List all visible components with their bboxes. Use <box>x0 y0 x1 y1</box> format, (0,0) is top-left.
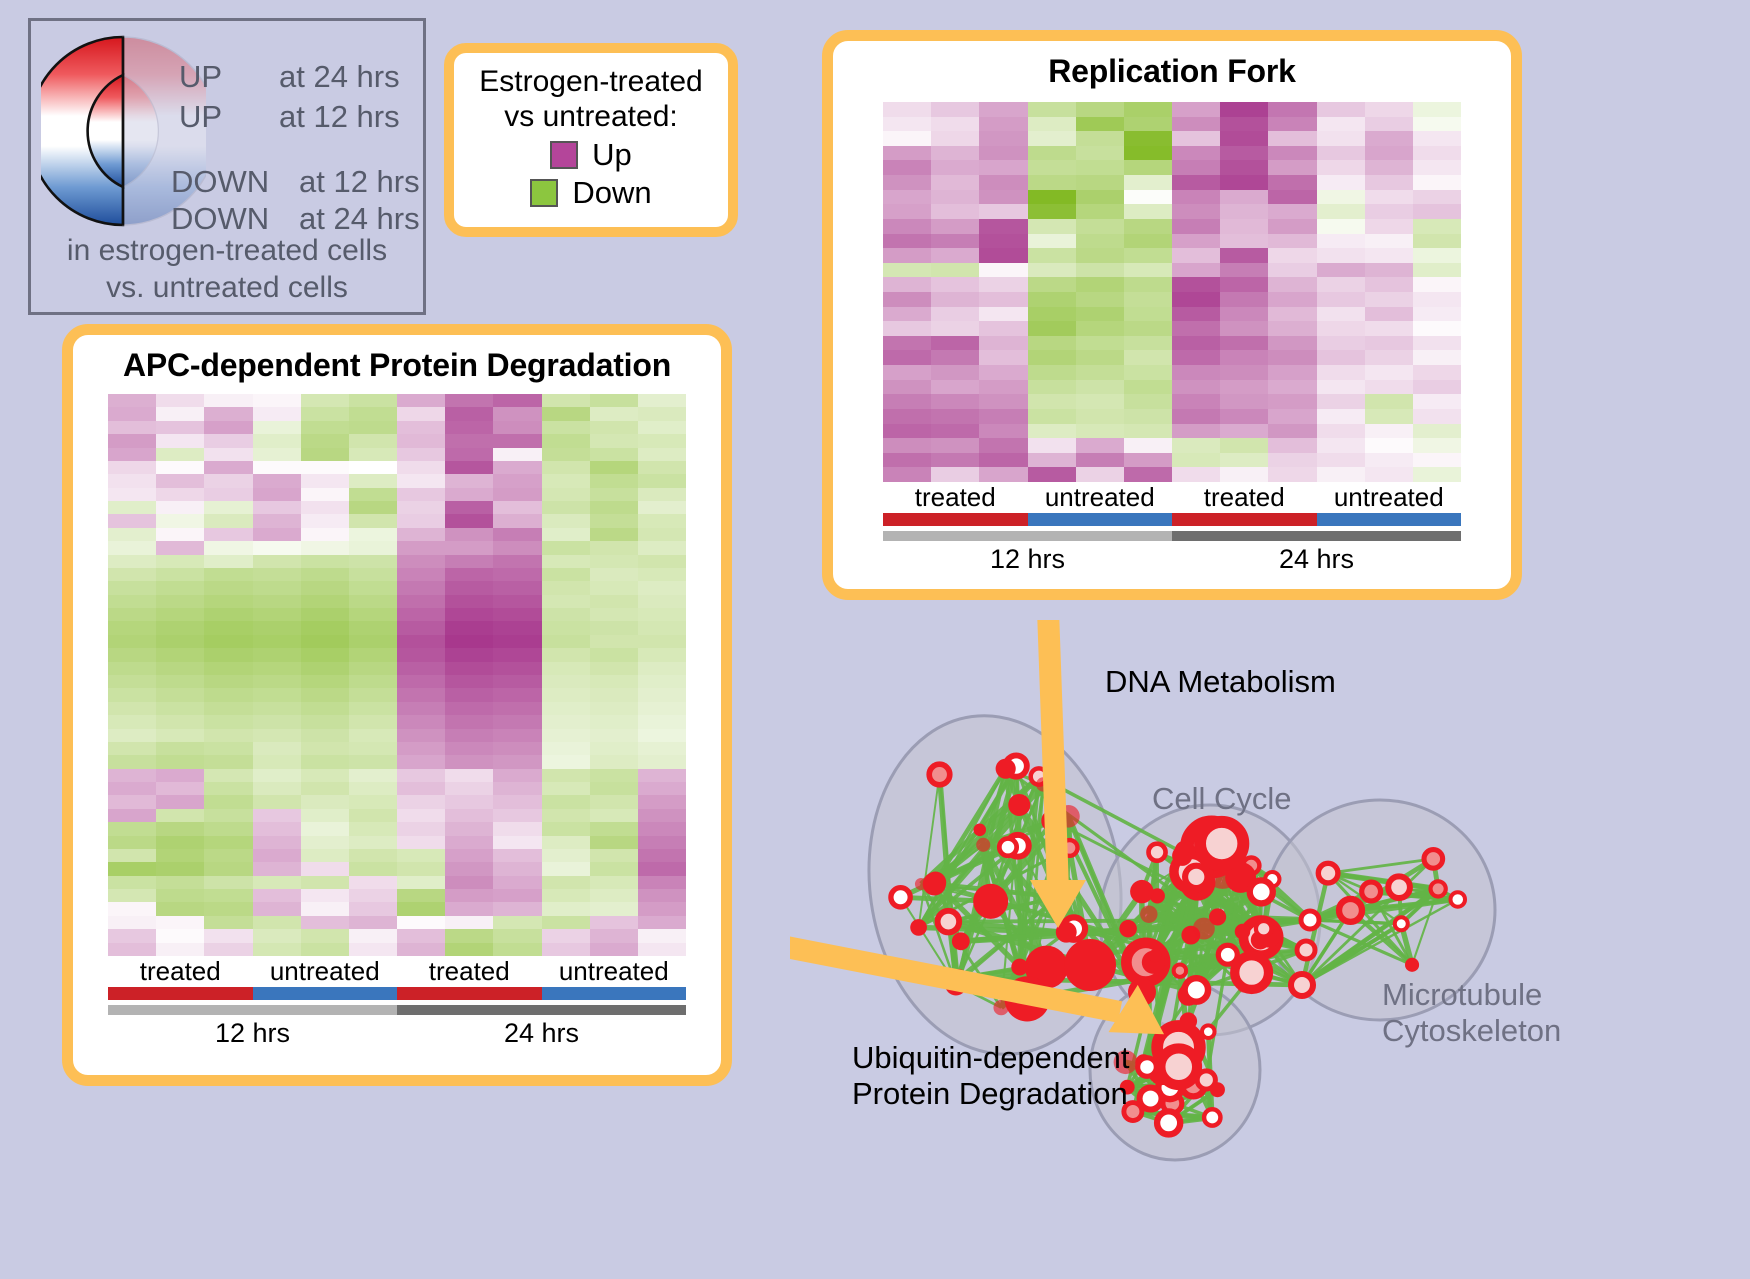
heatmap-cell <box>638 862 686 875</box>
legend-footer: in estrogen-treated cells vs. untreated … <box>31 233 423 306</box>
heatmap-cell <box>542 461 590 474</box>
heatmap-cell <box>1172 175 1220 190</box>
heatmap-cell <box>156 862 204 875</box>
heatmap-cell <box>542 809 590 822</box>
heatmap-cell <box>1317 394 1365 409</box>
network-node[interactable] <box>1204 1109 1220 1125</box>
heatmap-cell <box>445 394 493 407</box>
heatmap-cell <box>204 662 252 675</box>
heatmap-cell <box>253 595 301 608</box>
heatmap-cell <box>301 474 349 487</box>
heatmap-cell <box>156 394 204 407</box>
heatmap-cell <box>931 336 979 351</box>
heatmap-cell <box>1076 321 1124 336</box>
heatmap-cell <box>883 160 931 175</box>
heatmap-cell <box>445 581 493 594</box>
heatmap-cell <box>445 755 493 768</box>
group-label-untreated-24h: untreated <box>542 956 687 987</box>
heatmap-cell <box>397 662 445 675</box>
heatmap-cell <box>445 421 493 434</box>
heatmap-cell <box>156 581 204 594</box>
network-node[interactable] <box>996 759 1016 779</box>
heatmap-cell <box>253 662 301 675</box>
colorbar-treated-24h <box>1172 513 1317 526</box>
heatmap-cell <box>1268 453 1316 468</box>
heatmap-cell <box>1028 131 1076 146</box>
heatmap-cell <box>979 248 1027 263</box>
heatmap-cell <box>253 514 301 527</box>
heatmap-cell <box>397 862 445 875</box>
heatmap-cell <box>1365 380 1413 395</box>
heatmap-cell <box>1028 160 1076 175</box>
heatmap-cell <box>883 336 931 351</box>
network-node[interactable] <box>938 911 960 933</box>
heatmap-cell <box>301 662 349 675</box>
heatmap-cell <box>590 407 638 420</box>
heatmap-cell <box>301 621 349 634</box>
heatmap-cell <box>108 595 156 608</box>
heatmap-cell <box>542 822 590 835</box>
heatmap-cell <box>1413 438 1461 453</box>
network-node[interactable] <box>1450 892 1465 907</box>
heatmap-cell <box>253 822 301 835</box>
heatmap-cell <box>204 755 252 768</box>
heatmap-cell <box>542 675 590 688</box>
heatmap-cell <box>1413 102 1461 117</box>
heatmap-cell <box>542 742 590 755</box>
heatmap-cell <box>1028 409 1076 424</box>
heatmap-cell <box>979 438 1027 453</box>
heatmap-cell <box>638 929 686 942</box>
heatmap-cell <box>204 822 252 835</box>
network-node[interactable] <box>1157 1111 1180 1134</box>
heatmap-cell <box>1172 117 1220 132</box>
heatmap-cell <box>156 434 204 447</box>
heatmap-cell <box>1124 453 1172 468</box>
heatmap-cell <box>1172 146 1220 161</box>
heatmap-cell <box>590 836 638 849</box>
heatmap-cell <box>931 204 979 219</box>
heatmap-cell <box>397 782 445 795</box>
network-node[interactable] <box>1174 964 1186 976</box>
cluster-label-cell-cycle: Cell Cycle <box>1152 781 1292 817</box>
heatmap-cell <box>445 769 493 782</box>
heatmap-cell <box>397 581 445 594</box>
network-node[interactable] <box>1064 939 1116 991</box>
heatmap-cell <box>156 702 204 715</box>
heatmap-cell <box>493 795 541 808</box>
heatmap-cell <box>638 916 686 929</box>
network-node[interactable] <box>1185 978 1208 1001</box>
heatmap-cell <box>1172 248 1220 263</box>
heatmap-cell <box>1172 292 1220 307</box>
heatmap-cell <box>590 782 638 795</box>
heatmap-cell <box>445 702 493 715</box>
colorbar-untreated-24h <box>1317 513 1462 526</box>
heatmap-cell <box>1365 248 1413 263</box>
heatmap-cell <box>349 662 397 675</box>
heatmap-cell <box>1076 190 1124 205</box>
heatmap-cell <box>1317 248 1365 263</box>
heatmap-cell <box>1028 453 1076 468</box>
network-node[interactable] <box>1395 917 1408 930</box>
network-node[interactable] <box>1318 863 1338 883</box>
heatmap-cell <box>349 595 397 608</box>
heatmap-cell <box>638 742 686 755</box>
heatmap-cell <box>931 409 979 424</box>
heatmap-cell <box>590 434 638 447</box>
heatmap-cell <box>445 822 493 835</box>
heatmap-cell <box>979 467 1027 482</box>
heatmap-cell <box>301 929 349 942</box>
heatmap-cell <box>979 424 1027 439</box>
heatmap-cell <box>1028 438 1076 453</box>
network-node[interactable] <box>1362 882 1381 901</box>
heatmap-cell <box>590 621 638 634</box>
network-node[interactable] <box>929 764 950 785</box>
heatmap-cell <box>156 541 204 554</box>
network-node[interactable] <box>1193 918 1215 940</box>
network-node[interactable] <box>999 838 1016 855</box>
heatmap-cell <box>590 394 638 407</box>
group-label-treated-24h: treated <box>1172 482 1317 513</box>
heatmap-cell <box>493 608 541 621</box>
heatmap-cell <box>1220 277 1268 292</box>
heatmap-cell <box>1365 424 1413 439</box>
network-node[interactable] <box>1185 866 1207 888</box>
network-node[interactable] <box>1202 1025 1215 1038</box>
heatmap-cell <box>1220 365 1268 380</box>
heatmap-cell <box>253 648 301 661</box>
heatmap-cell <box>883 204 931 219</box>
heatmap-cell <box>397 514 445 527</box>
heatmap-cell <box>1268 219 1316 234</box>
network-node[interactable] <box>1256 921 1272 937</box>
heatmap-cell <box>397 568 445 581</box>
heatmap-cell <box>493 836 541 849</box>
heatmap-cell <box>301 809 349 822</box>
heatmap-cell <box>1172 438 1220 453</box>
legend-item-up: Up <box>550 137 632 173</box>
heatmap-cell <box>204 461 252 474</box>
network-node[interactable] <box>1200 822 1243 865</box>
heatmap-cell <box>883 409 931 424</box>
heatmap-cell <box>204 862 252 875</box>
heatmap-cell <box>397 702 445 715</box>
network-node[interactable] <box>952 932 970 950</box>
heatmap-cell <box>1317 424 1365 439</box>
heatmap-cell <box>1220 307 1268 322</box>
heatmap-cell <box>1028 102 1076 117</box>
heatmap-cell <box>156 407 204 420</box>
heatmap-cell <box>397 461 445 474</box>
colorbar-time-12h <box>883 531 1172 541</box>
heatmap-cell <box>1220 204 1268 219</box>
network-node[interactable] <box>976 838 990 852</box>
heatmap-cell <box>1076 394 1124 409</box>
heatmap-cell <box>638 648 686 661</box>
heatmap-cell <box>590 568 638 581</box>
network-node[interactable] <box>1119 920 1137 938</box>
heatmap-cell <box>542 595 590 608</box>
heatmap-cell <box>349 849 397 862</box>
heatmap-cell <box>590 822 638 835</box>
heatmap-cell <box>1172 131 1220 146</box>
heatmap-cell <box>1413 409 1461 424</box>
heatmap-cell <box>1413 204 1461 219</box>
heatmap-cell <box>1124 248 1172 263</box>
heatmap-cell <box>590 514 638 527</box>
network-node[interactable] <box>1180 1012 1197 1029</box>
heatmap-cell <box>542 608 590 621</box>
heatmap-cell <box>1124 219 1172 234</box>
network-node[interactable] <box>1011 959 1028 976</box>
network-node[interactable] <box>1175 840 1196 861</box>
heatmap-cell <box>1220 117 1268 132</box>
heatmap-cell <box>253 568 301 581</box>
heatmap-cell <box>1076 102 1124 117</box>
heatmap-cell <box>349 742 397 755</box>
heatmap-cell <box>1317 336 1365 351</box>
heatmap-cell <box>1220 394 1268 409</box>
heatmap-cell <box>1028 321 1076 336</box>
cluster-label-dna-metabolism: DNA Metabolism <box>1105 664 1336 700</box>
heatmap-cell <box>108 876 156 889</box>
heatmap-cell <box>493 702 541 715</box>
heatmap-cell <box>1268 307 1316 322</box>
heatmap-cell <box>1317 117 1365 132</box>
heatmap-cell <box>156 809 204 822</box>
heatmap-cell <box>445 902 493 915</box>
network-node[interactable] <box>973 824 986 837</box>
network-node[interactable] <box>1130 880 1153 903</box>
heatmap-cell <box>1172 365 1220 380</box>
network-node[interactable] <box>910 919 927 936</box>
network-node[interactable] <box>1291 974 1313 996</box>
heatmap-cell <box>253 688 301 701</box>
heatmap-cell <box>253 421 301 434</box>
heatmap-cell <box>397 555 445 568</box>
heatmap-cell <box>349 943 397 956</box>
heatmap-cell <box>1268 263 1316 278</box>
network-node[interactable] <box>973 884 1008 919</box>
heatmap-cell <box>1317 365 1365 380</box>
heatmap-cell <box>253 407 301 420</box>
heatmap-cell <box>1124 277 1172 292</box>
panel-title-replication-fork: Replication Fork <box>833 41 1511 90</box>
colorbar-time-24h <box>397 1005 686 1015</box>
heatmap-cell <box>590 688 638 701</box>
heatmap-cell <box>1028 277 1076 292</box>
heatmap-cell <box>1317 190 1365 205</box>
treatment-colorbar-replication-fork <box>883 513 1461 526</box>
heatmap-cell <box>638 595 686 608</box>
heatmap-cell <box>1076 438 1124 453</box>
panel-title-apc-degradation: APC-dependent Protein Degradation <box>73 335 721 384</box>
heatmap-cell <box>108 461 156 474</box>
heatmap-cell <box>301 461 349 474</box>
heatmap-cell <box>1413 350 1461 365</box>
network-node[interactable] <box>1210 1082 1225 1097</box>
heatmap-cell <box>1076 248 1124 263</box>
heatmap-cell <box>1317 321 1365 336</box>
heatmap-cell <box>445 943 493 956</box>
heatmap-cell <box>156 648 204 661</box>
heatmap-cell <box>108 943 156 956</box>
network-node[interactable] <box>1301 911 1319 929</box>
heatmap-cell <box>1317 350 1365 365</box>
heatmap-cell <box>542 795 590 808</box>
heatmap-cell <box>1268 190 1316 205</box>
heatmap-cell <box>204 448 252 461</box>
heatmap-cell <box>253 715 301 728</box>
heatmap-cell <box>108 501 156 514</box>
heatmap-cell <box>253 916 301 929</box>
heatmap-cell <box>1172 453 1220 468</box>
network-node[interactable] <box>1431 881 1446 896</box>
heatmap-cell <box>638 702 686 715</box>
heatmap-cell <box>397 448 445 461</box>
heatmap-cell <box>979 175 1027 190</box>
network-node[interactable] <box>1160 1048 1197 1085</box>
heatmap-cell <box>931 438 979 453</box>
heatmap-cell <box>542 902 590 915</box>
network-node[interactable] <box>1149 844 1166 861</box>
heatmap-cell <box>156 943 204 956</box>
heatmap-cell <box>204 434 252 447</box>
heatmap-cell <box>156 729 204 742</box>
heatmap-cell <box>931 175 979 190</box>
network-node[interactable] <box>1235 956 1269 990</box>
heatmap-cell <box>590 795 638 808</box>
heatmap-cell <box>108 916 156 929</box>
heatmap-cell <box>1365 175 1413 190</box>
heatmap-cell <box>445 662 493 675</box>
heatmap-cell <box>493 729 541 742</box>
heatmap-cell <box>493 555 541 568</box>
heatmap-cell <box>1172 380 1220 395</box>
heatmap-cell <box>931 160 979 175</box>
network-node[interactable] <box>1388 876 1410 898</box>
network-node[interactable] <box>1235 924 1251 940</box>
heatmap-cell <box>1124 160 1172 175</box>
heatmap-cell <box>445 461 493 474</box>
network-node[interactable] <box>1405 958 1419 972</box>
heatmap-cell <box>1172 160 1220 175</box>
heatmap-cell <box>445 528 493 541</box>
network-node[interactable] <box>1008 794 1030 816</box>
heatmap-cell <box>1124 175 1172 190</box>
heatmap-cell <box>883 175 931 190</box>
network-node[interactable] <box>1138 1058 1157 1077</box>
heatmap-cell <box>493 675 541 688</box>
heatmap-cell <box>493 501 541 514</box>
heatmap-cell <box>1413 336 1461 351</box>
heatmap-cell <box>1220 380 1268 395</box>
heatmap-cell <box>638 488 686 501</box>
heatmap-cell <box>1124 467 1172 482</box>
heatmap-cell <box>1124 131 1172 146</box>
heatmap-cell <box>301 688 349 701</box>
heatmap-cell <box>108 769 156 782</box>
heatmap-cell <box>156 555 204 568</box>
heatmap-cell <box>397 675 445 688</box>
heatmap-cell <box>301 782 349 795</box>
network-node[interactable] <box>923 872 946 895</box>
heatmap-cell <box>1365 394 1413 409</box>
heatmap-cell <box>253 488 301 501</box>
heatmap-cell <box>204 729 252 742</box>
heatmap-cell <box>590 916 638 929</box>
heatmap-cell <box>204 929 252 942</box>
network-node[interactable] <box>1250 880 1273 903</box>
axis-apc-degradation: treated untreated treated untreated 12 h… <box>108 956 686 1049</box>
heatmap-cell <box>204 488 252 501</box>
heatmap-cell <box>108 662 156 675</box>
heatmap-cell <box>883 350 931 365</box>
heatmap-cell <box>1076 131 1124 146</box>
heatmap-cell <box>204 702 252 715</box>
heatmap-cell <box>301 902 349 915</box>
network-node[interactable] <box>1149 949 1162 962</box>
heatmap-cell <box>445 688 493 701</box>
heatmap-cell <box>1365 117 1413 132</box>
heatmap-cell <box>204 568 252 581</box>
heatmap-cell <box>979 453 1027 468</box>
heatmap-cell <box>590 742 638 755</box>
heatmap-cell <box>883 365 931 380</box>
heatmap-cell <box>542 501 590 514</box>
heatmap-cell <box>1365 453 1413 468</box>
heatmap-cell <box>204 394 252 407</box>
network-node[interactable] <box>1339 899 1362 922</box>
heatmap-cell <box>1365 467 1413 482</box>
heatmap-cell <box>1076 424 1124 439</box>
heatmap-cell <box>156 688 204 701</box>
heatmap-cell <box>590 876 638 889</box>
heatmap-cell <box>931 380 979 395</box>
heatmap-cell <box>638 514 686 527</box>
heatmap-cell <box>397 836 445 849</box>
colorbar-untreated-12h <box>1028 513 1173 526</box>
network-node[interactable] <box>1140 905 1157 922</box>
network-node[interactable] <box>1297 941 1315 959</box>
heatmap-cell <box>1076 409 1124 424</box>
heatmap-cell <box>493 688 541 701</box>
heatmap-cell <box>156 742 204 755</box>
heatmap-cell <box>931 424 979 439</box>
heatmap-cell <box>493 648 541 661</box>
heatmap-cell <box>931 102 979 117</box>
heatmap-cell <box>349 568 397 581</box>
heatmap-cell <box>883 219 931 234</box>
treatment-colorbar-apc-degradation <box>108 987 686 1000</box>
heatmap-cell <box>1028 424 1076 439</box>
heatmap-cell <box>542 394 590 407</box>
heatmap-cell <box>204 916 252 929</box>
network-node[interactable] <box>891 888 910 907</box>
network-node[interactable] <box>1424 850 1443 869</box>
heatmap-cell <box>108 394 156 407</box>
heatmap-cell <box>542 688 590 701</box>
heatmap-cell <box>108 621 156 634</box>
heatmap-cell <box>1028 175 1076 190</box>
heatmap-cell <box>108 407 156 420</box>
heatmap-cell <box>493 755 541 768</box>
heatmap-cell <box>1220 219 1268 234</box>
heatmap-cell <box>1220 102 1268 117</box>
heatmap-cell <box>1220 453 1268 468</box>
